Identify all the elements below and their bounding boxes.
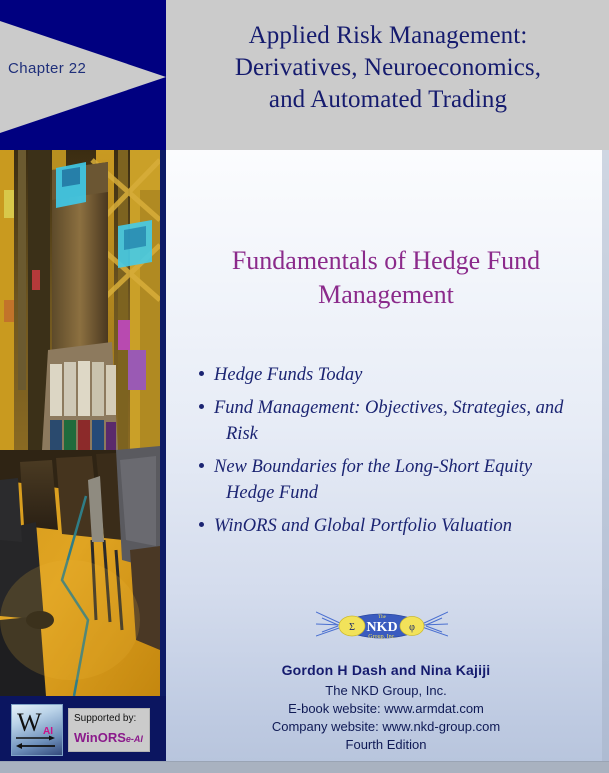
book-title-line-1: Applied Risk Management: (170, 20, 606, 52)
bottom-strip (0, 761, 609, 773)
supported-by-label: Supported by: (74, 713, 136, 724)
authors-line: Gordon H Dash and Nina Kajiji (186, 662, 586, 678)
winors-name: WinORS (74, 730, 126, 745)
footer-lines: The NKD Group, Inc. E-book website: www.… (186, 682, 586, 754)
list-item: Hedge Funds Today (198, 362, 588, 388)
slide-title-line-1: Fundamentals of Hedge Fund (186, 244, 586, 278)
bullet-line-cont: Risk (214, 421, 588, 447)
bullet-dot-icon (199, 522, 204, 527)
winors-ai-logo: W AI (11, 704, 63, 756)
trading-floor-photo (0, 150, 160, 696)
nkd-group-logo: Σ φ The NKD Group, Inc. (316, 608, 448, 644)
bullet-dot-icon (199, 404, 204, 409)
bullet-line: Fund Management: Objectives, Strategies,… (214, 395, 588, 421)
wai-letter: W (17, 708, 42, 738)
header-navy-panel: Chapter 22 (0, 0, 166, 150)
footer-line-edition: Fourth Edition (186, 736, 586, 754)
book-title-line-3: and Automated Trading (170, 84, 606, 116)
list-item: New Boundaries for the Long-Short Equity… (198, 454, 588, 506)
bullet-line-cont: Hedge Fund (214, 480, 588, 506)
winors-brand-label: WinORSe-AI (74, 730, 143, 745)
svg-text:NKD: NKD (366, 620, 397, 635)
arrows-icon (15, 735, 57, 751)
supported-by-box: Supported by: WinORSe-AI (68, 708, 150, 752)
chapter-label: Chapter 22 (8, 60, 86, 77)
bullet-list: Hedge Funds Today Fund Management: Objec… (198, 362, 588, 546)
svg-text:φ: φ (409, 622, 415, 633)
footer-line-org: The NKD Group, Inc. (186, 682, 586, 700)
book-title-line-2: Derivatives, Neuroeconomics, (170, 52, 606, 84)
footer-line-company: Company website: www.nkd-group.com (186, 718, 586, 736)
bullet-line: New Boundaries for the Long-Short Equity (214, 454, 588, 480)
list-item: Fund Management: Objectives, Strategies,… (198, 395, 588, 447)
footer-line-ebook: E-book website: www.armdat.com (186, 700, 586, 718)
bullet-line: Hedge Funds Today (214, 362, 588, 388)
svg-text:Σ: Σ (349, 622, 355, 633)
bullet-dot-icon (199, 463, 204, 468)
svg-text:Group, Inc.: Group, Inc. (368, 634, 396, 640)
bullet-line: WinORS and Global Portfolio Valuation (214, 513, 588, 539)
winors-subscript: e-AI (126, 734, 143, 744)
photo-frame (0, 150, 166, 696)
chapter-triangle-shape (0, 21, 166, 133)
slide-title: Fundamentals of Hedge Fund Management (186, 244, 586, 312)
book-title: Applied Risk Management: Derivatives, Ne… (170, 20, 606, 116)
bullet-dot-icon (199, 371, 204, 376)
slide-canvas: Chapter 22 Applied Risk Management: Deri… (0, 0, 609, 773)
right-edge-border (602, 150, 609, 762)
list-item: WinORS and Global Portfolio Valuation (198, 513, 588, 539)
slide-title-line-2: Management (186, 278, 586, 312)
